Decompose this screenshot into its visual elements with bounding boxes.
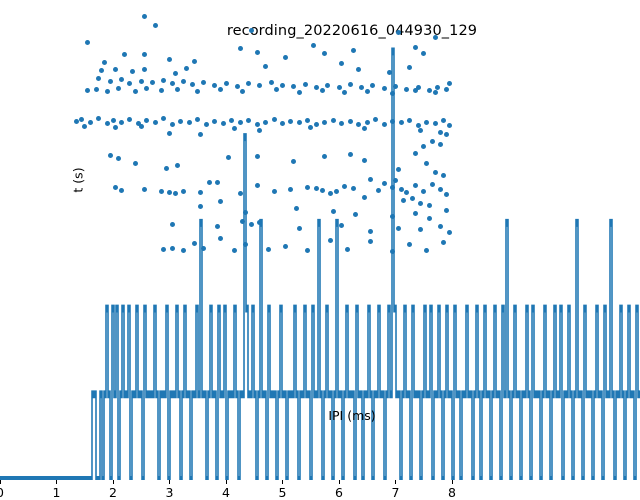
x-tick-mark xyxy=(56,480,57,484)
x-tick-mark xyxy=(452,480,453,484)
x-tick-label: 2 xyxy=(109,485,117,500)
x-tick-label: 0 xyxy=(0,485,4,500)
x-axis-label: IPI (ms) xyxy=(126,408,578,423)
x-tick-label: 4 xyxy=(222,485,230,500)
x-tick-mark xyxy=(226,480,227,484)
x-tick-mark xyxy=(395,480,396,484)
x-tick-mark xyxy=(282,480,283,484)
x-tick-label: 1 xyxy=(53,485,61,500)
x-tick-label: 7 xyxy=(392,485,400,500)
x-tick-label: 5 xyxy=(279,485,287,500)
x-tick-label: 3 xyxy=(166,485,174,500)
x-tick-mark xyxy=(113,480,114,484)
x-tick-label: 6 xyxy=(335,485,343,500)
x-tick-mark xyxy=(0,480,1,484)
matplotlib-figure: recording_20220616_044930_129 0102030405… xyxy=(0,0,640,480)
x-tick-mark xyxy=(339,480,340,484)
x-tick-mark xyxy=(169,480,170,484)
x-tick-label: 8 xyxy=(448,485,456,500)
histogram-axes: 05 012345678 xyxy=(0,261,452,328)
